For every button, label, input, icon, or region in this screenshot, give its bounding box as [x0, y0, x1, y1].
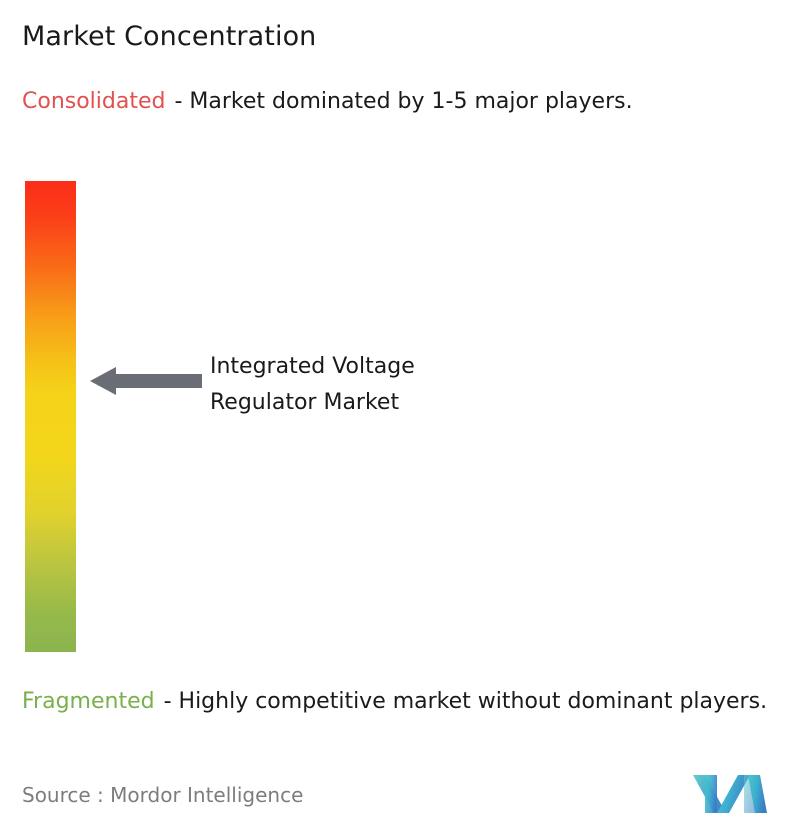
consolidated-legend: Consolidated- Market dominated by 1-5 ma…	[22, 86, 778, 118]
fragmented-legend: Fragmented- Highly competitive market wi…	[22, 686, 788, 718]
fragmented-description: - Highly competitive market without domi…	[164, 689, 767, 714]
mi-monogram-icon	[692, 771, 768, 817]
market-pointer-label-line-1: Integrated Voltage	[210, 349, 540, 385]
market-pointer-label-line-2: Regulator Market	[210, 385, 540, 421]
concentration-gradient-bar	[25, 181, 76, 652]
page-title: Market Concentration	[22, 20, 316, 54]
source-note: Source : Mordor Intelligence	[22, 782, 303, 808]
left-arrow-icon	[90, 366, 202, 396]
market-pointer-label: Integrated Voltage Regulator Market	[210, 349, 540, 421]
fragmented-keyword: Fragmented	[22, 689, 155, 714]
consolidated-keyword: Consolidated	[22, 89, 165, 114]
mordor-intelligence-logo	[692, 771, 768, 817]
market-position-arrow	[90, 366, 202, 396]
consolidated-description: - Market dominated by 1-5 major players.	[174, 89, 632, 114]
